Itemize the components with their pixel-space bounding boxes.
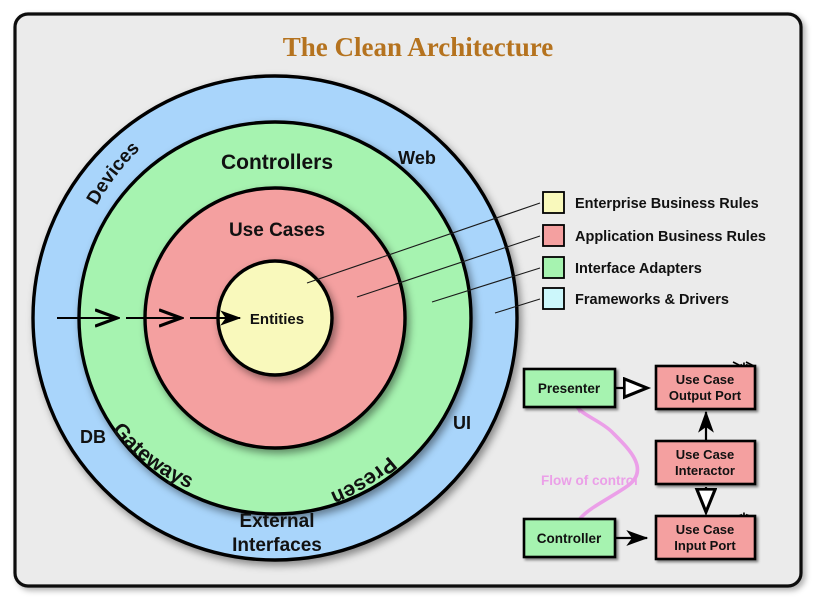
flow-of-control-label: Flow of control xyxy=(541,473,638,488)
label-external-interfaces-line2: Interfaces xyxy=(232,535,322,556)
box-controller-label: Controller xyxy=(537,531,602,546)
box-input-port-line2: Input Port xyxy=(674,538,736,553)
box-output-port-line2: Output Port xyxy=(669,388,742,403)
page-title: The Clean Architecture xyxy=(283,32,553,62)
legend-label-interface-adapters: Interface Adapters xyxy=(575,261,702,277)
legend-label-enterprise: Enterprise Business Rules xyxy=(575,196,759,212)
box-use-case-input-port[interactable]: <I> Use Case Input Port xyxy=(656,512,755,559)
label-web: Web xyxy=(398,148,436,168)
legend-swatch-application xyxy=(543,225,564,246)
legend-swatch-interface-adapters xyxy=(543,257,564,278)
box-presenter[interactable]: Presenter xyxy=(524,369,615,407)
label-ui: UI xyxy=(453,413,471,433)
legend-swatch-enterprise xyxy=(543,192,564,213)
legend-label-frameworks: Frameworks & Drivers xyxy=(575,292,729,308)
box-use-case-output-port[interactable]: <I> <I> Use Case Output Port xyxy=(656,361,755,409)
legend-label-application: Application Business Rules xyxy=(575,229,766,245)
legend-item-enterprise-business-rules: Enterprise Business Rules xyxy=(543,192,759,213)
box-interactor-line1: Use Case xyxy=(676,447,735,462)
box-presenter-label: Presenter xyxy=(538,381,601,396)
legend-swatch-frameworks xyxy=(543,288,564,309)
box-output-port-line1: Use Case xyxy=(676,372,735,387)
label-use-cases: Use Cases xyxy=(229,220,325,241)
legend-item-application-business-rules: Application Business Rules xyxy=(543,225,766,246)
label-controllers: Controllers xyxy=(221,151,333,174)
label-db: DB xyxy=(80,427,106,447)
diagram-canvas: The Clean Architecture Controllers Use C… xyxy=(0,0,816,600)
box-input-port-line1: Use Case xyxy=(676,522,735,537)
box-use-case-interactor[interactable]: Use Case Interactor xyxy=(656,441,755,484)
box-controller[interactable]: Controller xyxy=(524,519,615,557)
label-entities: Entities xyxy=(250,311,304,328)
box-interactor-line2: Interactor xyxy=(675,463,735,478)
label-external-interfaces-line1: External xyxy=(240,511,315,532)
